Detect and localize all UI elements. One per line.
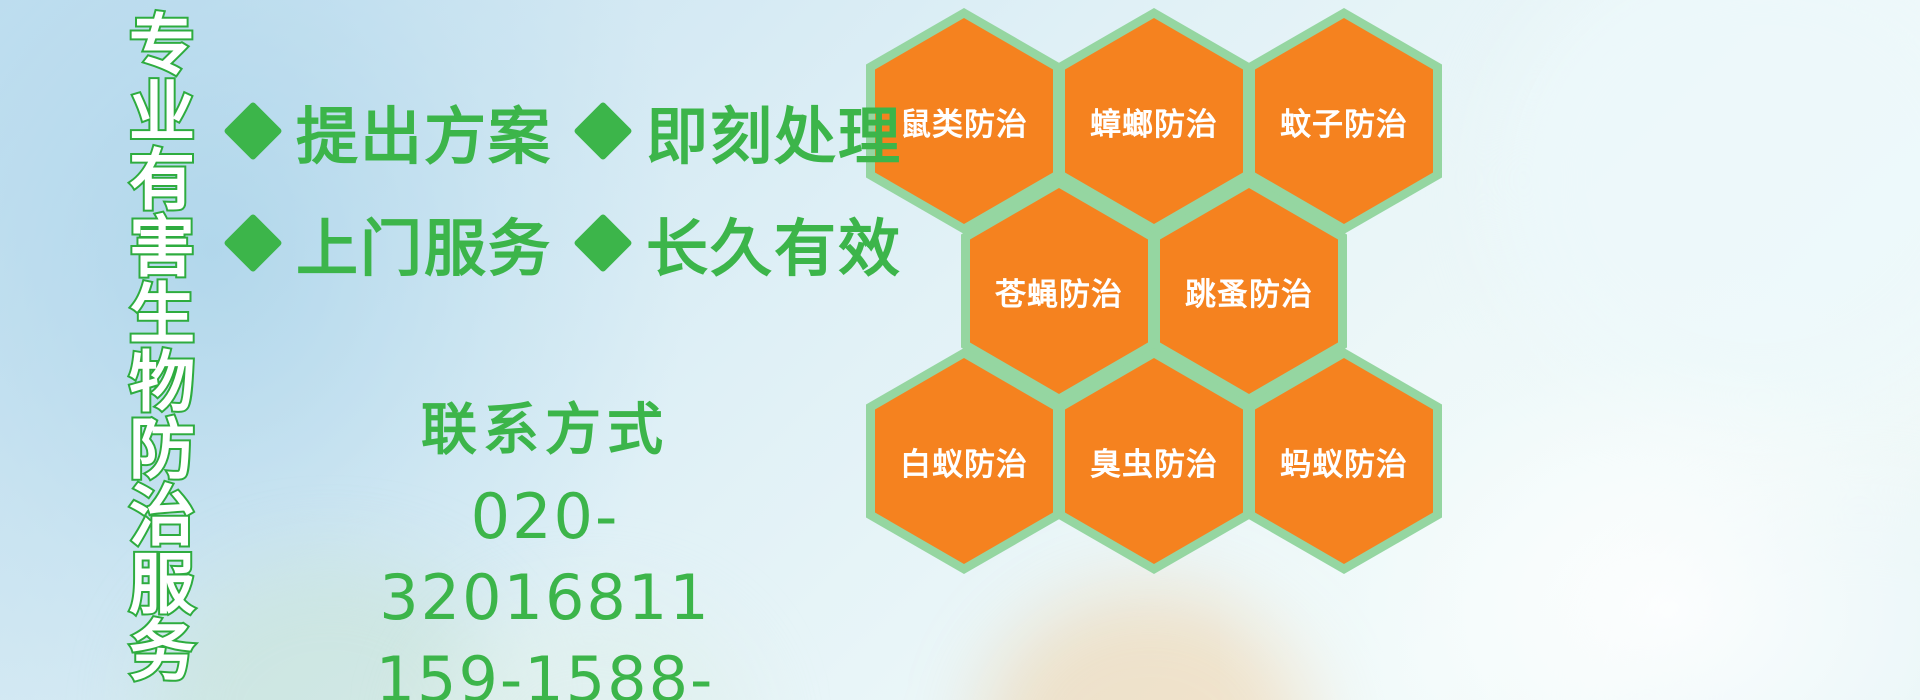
feature-label: 提出方案 xyxy=(296,86,552,176)
hex-service-bedbug[interactable]: 臭虫防治 xyxy=(1056,348,1252,574)
diamond-icon xyxy=(223,101,282,160)
vertical-headline-char: 服 xyxy=(129,551,195,618)
hex-label: 鼠类防治 xyxy=(900,99,1028,144)
phone-mobile[interactable]: 159-1588-1110 xyxy=(310,639,780,700)
feature-label: 上门服务 xyxy=(296,198,552,288)
vertical-headline: 专 业 有 害 生 物 防 治 服 务 xyxy=(108,12,216,572)
vertical-headline-char: 害 xyxy=(129,214,195,281)
vertical-headline-char: 生 xyxy=(129,281,195,348)
service-hexagon-grid: 鼠类防治 蟑螂防治 蚊子防治 苍蝇防治 跳蚤防治 白蚁防治 xyxy=(860,0,1480,560)
hex-label: 蚊子防治 xyxy=(1280,99,1408,144)
vertical-headline-char: 防 xyxy=(129,416,195,483)
vertical-headline-char: 有 xyxy=(129,147,195,214)
contact-heading: 联系方式 xyxy=(310,400,780,462)
vertical-headline-char: 务 xyxy=(129,618,195,685)
pest-control-promo-banner: 专 业 有 害 生 物 防 治 服 务 提出方案 即刻处理 上门服务 长久有效 xyxy=(0,0,1920,700)
diamond-icon xyxy=(573,101,632,160)
hex-service-termite[interactable]: 白蚁防治 xyxy=(866,348,1062,574)
phone-landline[interactable]: 020-32016811 xyxy=(310,476,780,640)
hex-label: 臭虫防治 xyxy=(1090,439,1218,484)
diamond-icon xyxy=(573,213,632,272)
feature-item-immediate-handling: 即刻处理 xyxy=(582,86,902,176)
background-blob-right-bottom xyxy=(1630,500,1920,700)
vertical-headline-char: 专 xyxy=(129,12,195,79)
feature-item-onsite-service: 上门服务 xyxy=(232,198,552,288)
hex-service-ant[interactable]: 蚂蚁防治 xyxy=(1246,348,1442,574)
hex-label: 跳蚤防治 xyxy=(1185,269,1313,314)
background-blob-right-top xyxy=(1500,0,1920,420)
feature-label: 即刻处理 xyxy=(646,86,902,176)
hex-label: 苍蝇防治 xyxy=(995,269,1123,314)
vertical-headline-char: 业 xyxy=(129,79,195,146)
vertical-headline-char: 治 xyxy=(129,483,195,550)
feature-label: 长久有效 xyxy=(646,198,902,288)
vertical-headline-char: 物 xyxy=(129,349,195,416)
feature-item-long-lasting: 长久有效 xyxy=(582,198,902,288)
hex-label: 蟑螂防治 xyxy=(1090,99,1218,144)
feature-row-1: 提出方案 即刻处理 xyxy=(232,86,902,176)
hex-label: 白蚁防治 xyxy=(900,439,1028,484)
feature-row-2: 上门服务 长久有效 xyxy=(232,198,902,288)
diamond-icon xyxy=(223,213,282,272)
contact-block: 联系方式 020-32016811 159-1588-1110 xyxy=(310,400,780,700)
feature-item-propose-plan: 提出方案 xyxy=(232,86,552,176)
hex-label: 蚂蚁防治 xyxy=(1280,439,1408,484)
background-blob-center xyxy=(980,590,1320,700)
